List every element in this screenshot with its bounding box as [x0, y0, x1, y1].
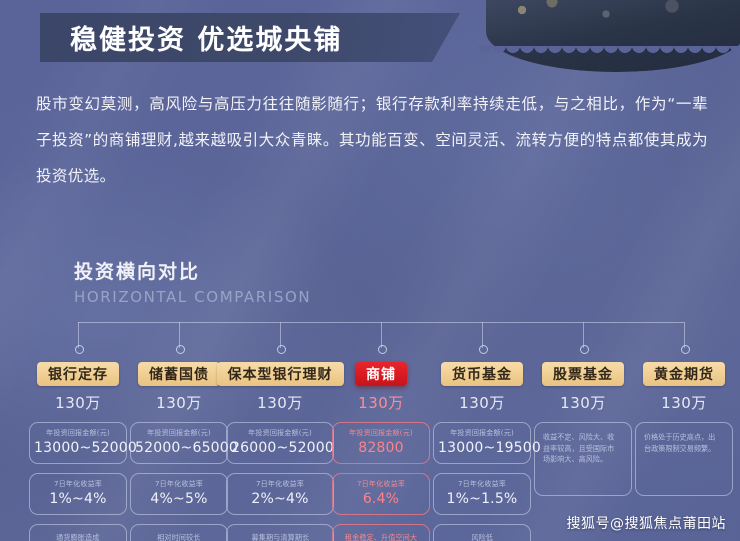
metric-box: 年投资回报金额(元)82800 [332, 422, 430, 464]
comparison-column: 保本型银行理财130万年投资回报金额(元)26000~520007日年化收益率2… [224, 362, 336, 541]
comparison-column: 储蓄国债130万年投资回报金额(元)52000~650007日年化收益率4%~5… [130, 362, 228, 541]
principal-amount: 130万 [55, 392, 101, 413]
connector-node [378, 345, 387, 354]
metric-value: 6.4% [337, 490, 425, 508]
connector-node [479, 345, 488, 354]
column-description: 价格处于历史高点，出台政策限制交易频繁。 [635, 422, 733, 496]
metric-value: 26000~52000 [231, 439, 329, 457]
comparison-column: 黄金期货130万价格处于历史高点，出台政策限制交易频繁。 [635, 362, 733, 496]
metric-label: 7日年化收益率 [234, 479, 326, 488]
metric-box: 7日年化收益率4%~5% [130, 473, 228, 515]
metric-box: 7日年化收益率1%~1.5% [433, 473, 531, 515]
comparison-column: 货币基金130万年投资回报金额(元)13000~195007日年化收益率1%~1… [433, 362, 531, 541]
intro-paragraph: 股市变幻莫测，高风险与高压力往往随影随行；银行存款利率持续走低，与之相比，作为“… [36, 86, 708, 194]
metric-label: 年投资回报金额(元) [234, 428, 326, 437]
metric-value: 1%~4% [34, 490, 122, 508]
comparison-column: 银行定存130万年投资回报金额(元)13000~520007日年化收益率1%~4… [29, 362, 127, 541]
metric-value: 13000~52000 [34, 439, 122, 457]
metric-box: 年投资回报金额(元)26000~52000 [226, 422, 334, 464]
metric-label: 7日年化收益率 [340, 479, 423, 488]
metric-box: 7日年化收益率2%~4% [226, 473, 334, 515]
metric-box: 7日年化收益率1%~4% [29, 473, 127, 515]
metric-value: 52000~65000 [135, 439, 223, 457]
column-name-tag[interactable]: 货币基金 [441, 362, 523, 386]
investment-comparison-infographic: 稳健投资 优选城央铺 股市变幻莫测，高风险与高压力往往随影随行；银行存款利率持续… [0, 0, 740, 541]
column-note: 租金稳定、升值空间大抗风险、高抗通胀能力 [332, 524, 430, 541]
connector-node [681, 345, 690, 354]
comparison-column: 商铺130万年投资回报金额(元)828007日年化收益率6.4%租金稳定、升值空… [332, 362, 430, 541]
description-text: 收益不定、风险大、收益率较高，且受国际市场影响大、高风险。 [543, 432, 619, 465]
header-banner: 稳健投资 优选城央铺 [40, 13, 460, 62]
metric-value: 82800 [337, 439, 425, 457]
connector-node [580, 345, 589, 354]
metric-box: 年投资回报金额(元)52000~65000 [130, 422, 228, 464]
principal-amount: 130万 [257, 392, 303, 413]
metric-box: 7日年化收益率6.4% [332, 473, 430, 515]
metric-label: 年投资回报金额(元) [340, 428, 423, 437]
metric-value: 4%~5% [135, 490, 223, 508]
connector-node [277, 345, 286, 354]
column-name-tag[interactable]: 股票基金 [542, 362, 624, 386]
metric-box: 年投资回报金额(元)13000~52000 [29, 422, 127, 464]
metric-label: 7日年化收益率 [37, 479, 120, 488]
metric-value: 2%~4% [231, 490, 329, 508]
watermark: 搜狐号@搜狐焦点莆田站 [567, 513, 727, 533]
metric-label: 7日年化收益率 [138, 479, 221, 488]
aerial-city-photo [486, 0, 740, 72]
section-title-cn: 投资横向对比 [74, 260, 311, 284]
page-title: 稳健投资 优选城央铺 [40, 18, 342, 57]
note-text: 相对时间较长变现不灵活 [157, 533, 200, 541]
principal-amount: 130万 [459, 392, 505, 413]
section-heading: 投资横向对比 HORIZONTAL COMPARISON [74, 260, 311, 308]
column-note: 风险低收益率低 [433, 524, 531, 541]
column-note: 相对时间较长变现不灵活 [130, 524, 228, 541]
column-name-tag[interactable]: 商铺 [355, 362, 407, 386]
comparison-column: 股票基金130万收益不定、风险大、收益率较高，且受国际市场影响大、高风险。 [534, 362, 632, 496]
note-text: 募集期与清算期长实际收益偏低 [251, 533, 309, 541]
column-name-tag[interactable]: 保本型银行理财 [217, 362, 344, 386]
column-note: 募集期与清算期长实际收益偏低 [226, 524, 334, 541]
principal-amount: 130万 [560, 392, 606, 413]
note-text: 通货膨胀造成现金变相贬值 [56, 533, 99, 541]
principal-amount: 130万 [156, 392, 202, 413]
note-text: 租金稳定、升值空间大抗风险、高抗通胀能力 [345, 533, 417, 541]
column-description: 收益不定、风险大、收益率较高，且受国际市场影响大、高风险。 [534, 422, 632, 496]
metric-value: 13000~19500 [438, 439, 526, 457]
principal-amount: 130万 [358, 392, 404, 413]
connector-node [75, 345, 84, 354]
connector-node [176, 345, 185, 354]
metric-label: 7日年化收益率 [441, 479, 524, 488]
principal-amount: 130万 [661, 392, 707, 413]
metric-value: 1%~1.5% [438, 490, 526, 508]
metric-box: 年投资回报金额(元)13000~19500 [433, 422, 531, 464]
column-note: 通货膨胀造成现金变相贬值 [29, 524, 127, 541]
column-name-tag[interactable]: 储蓄国债 [138, 362, 220, 386]
note-text: 风险低收益率低 [468, 533, 497, 541]
metric-label: 年投资回报金额(元) [37, 428, 120, 437]
description-text: 价格处于历史高点，出台政策限制交易频繁。 [644, 432, 720, 454]
column-name-tag[interactable]: 银行定存 [37, 362, 119, 386]
column-name-tag[interactable]: 黄金期货 [643, 362, 725, 386]
metric-label: 年投资回报金额(元) [138, 428, 221, 437]
section-title-en: HORIZONTAL COMPARISON [74, 286, 311, 308]
metric-label: 年投资回报金额(元) [441, 428, 524, 437]
